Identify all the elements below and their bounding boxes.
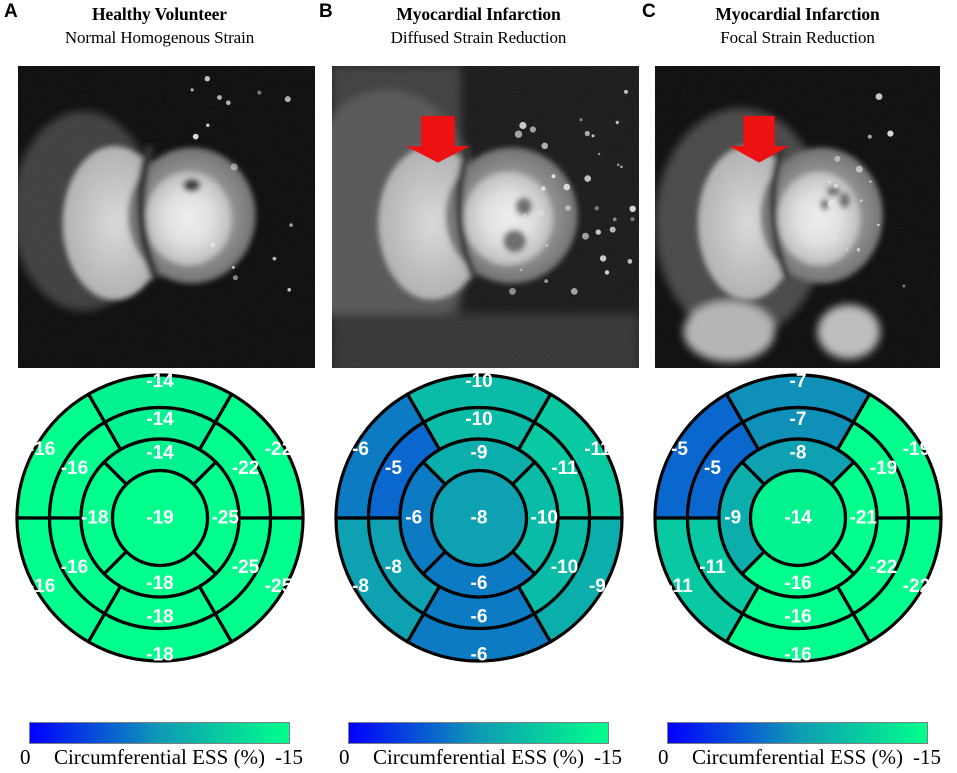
bullseye-segment-label: -22 <box>869 557 896 578</box>
bullseye-segment-label: -16 <box>784 606 811 627</box>
bullseye-segment-label: -11 <box>666 576 693 597</box>
bullseye-svg: -19-7-5-11-16-22-19-7-5-11-16-22-8-9-16-… <box>652 372 944 664</box>
bullseye-chart-b: -11-10-6-8-6-9-11-10-5-8-6-10-9-6-6-10-8 <box>333 372 625 664</box>
bullseye-segment-label: -14 <box>146 442 174 463</box>
short-axis-cardiac-mri-focal-mi <box>655 66 940 368</box>
bullseye-segment-label: -7 <box>789 372 806 392</box>
bullseye-chart-c: -19-7-5-11-16-22-19-7-5-11-16-22-8-9-16-… <box>652 372 944 664</box>
colorbar-gradient-a <box>29 722 290 744</box>
short-axis-cardiac-mri-diffuse-mi <box>332 66 639 368</box>
bullseye-segment-label: -16 <box>60 557 87 578</box>
bullseye-segment-label: -8 <box>352 576 369 597</box>
bullseye-segment-label: -5 <box>704 458 721 479</box>
bullseye-segment-label: -16 <box>784 644 811 664</box>
panel-c: C Myocardial Infarction Focal Strain Red… <box>638 0 957 726</box>
bullseye-segment-label: -10 <box>465 409 492 430</box>
bullseye-segment-label: -25 <box>211 508 239 529</box>
bullseye-segment-label: -25 <box>264 576 292 597</box>
bullseye-segment-label: -18 <box>146 606 173 627</box>
colorbar-max-label-b: -15 <box>594 747 622 768</box>
bullseye-segment-label: -6 <box>352 439 369 460</box>
bullseye-segment-label: -9 <box>470 442 487 463</box>
colorbar-max-label-a: -15 <box>275 747 303 768</box>
bullseye-segment-label: -7 <box>789 409 806 430</box>
bullseye-segment-label: -11 <box>551 458 578 479</box>
bullseye-segment-label: -16 <box>60 458 87 479</box>
bullseye-segment-label: -22 <box>231 458 258 479</box>
colorbar-gradient-c <box>667 722 928 744</box>
mri-noise-texture <box>655 66 940 368</box>
bullseye-svg: -11-10-6-8-6-9-11-10-5-8-6-10-9-6-6-10-8 <box>333 372 625 664</box>
panel-b-titles: Myocardial Infarction Diffused Strain Re… <box>319 4 638 49</box>
bullseye-segment-label: -9 <box>724 508 741 529</box>
bullseye-segment-label: -16 <box>27 576 54 597</box>
bullseye-segment-label: -8 <box>385 557 402 578</box>
panel-b-title: Myocardial Infarction <box>319 4 638 26</box>
bullseye-segment-label: -22 <box>264 439 291 460</box>
bullseye-segment-label: -9 <box>588 576 605 597</box>
panel-b: B Myocardial Infarction Diffused Strain … <box>319 0 638 726</box>
bullseye-segment-label: -5 <box>385 458 402 479</box>
bullseye-chart-a: -22-14-16-16-18-25-22-14-16-16-18-25-14-… <box>14 372 306 664</box>
bullseye-segment-label: -11 <box>584 439 611 460</box>
colorbar-gradient-b <box>348 722 609 744</box>
panel-a-subtitle: Normal Homogenous Strain <box>0 27 319 49</box>
panel-b-subtitle: Diffused Strain Reduction <box>319 27 638 49</box>
panel-a-titles: Healthy Volunteer Normal Homogenous Stra… <box>0 4 319 49</box>
panel-c-titles: Myocardial Infarction Focal Strain Reduc… <box>638 4 957 49</box>
bullseye-segment-label: -14 <box>146 372 174 392</box>
bullseye-segment-label: -14 <box>784 508 812 529</box>
bullseye-segment-label: -6 <box>470 573 487 594</box>
colorbar-title-a: Circumferential ESS (%) <box>0 747 319 768</box>
bullseye-svg: -22-14-16-16-18-25-22-14-16-16-18-25-14-… <box>14 372 306 664</box>
bullseye-segment-label: -14 <box>146 409 174 430</box>
bullseye-segment-label: -10 <box>550 557 577 578</box>
bullseye-segment-label: -5 <box>671 439 688 460</box>
bullseye-segment-label: -10 <box>465 372 492 392</box>
mri-image-c <box>655 66 940 368</box>
colorbar-title-c: Circumferential ESS (%) <box>638 747 957 768</box>
short-axis-cardiac-mri-healthy <box>18 66 315 368</box>
bullseye-segment-label: -11 <box>699 557 726 578</box>
mri-noise-texture <box>332 66 639 368</box>
bullseye-segment-label: -18 <box>146 573 173 594</box>
bullseye-segment-label: -10 <box>530 508 557 529</box>
mri-image-b <box>332 66 639 368</box>
bullseye-segment-label: -6 <box>470 606 487 627</box>
bullseye-segment-label: -16 <box>784 573 811 594</box>
panel-a: A Healthy Volunteer Normal Homogenous St… <box>0 0 319 726</box>
bullseye-segment-label: -16 <box>27 439 54 460</box>
bullseye-segment-label: -25 <box>231 557 259 578</box>
bullseye-segment-label: -22 <box>902 576 929 597</box>
bullseye-segment-label: -6 <box>470 644 487 664</box>
panel-a-title: Healthy Volunteer <box>0 4 319 26</box>
bullseye-segment-label: -21 <box>849 508 877 529</box>
mri-image-a <box>18 66 315 368</box>
bullseye-segment-label: -19 <box>902 439 929 460</box>
bullseye-segment-label: -6 <box>405 508 422 529</box>
panel-c-title: Myocardial Infarction <box>638 4 957 26</box>
mri-noise-texture <box>18 66 315 368</box>
bullseye-segment-label: -19 <box>869 458 896 479</box>
bullseye-segment-label: -18 <box>146 644 173 664</box>
bullseye-segment-label: -18 <box>81 508 108 529</box>
bullseye-segment-label: -19 <box>146 508 173 529</box>
panel-c-subtitle: Focal Strain Reduction <box>638 27 957 49</box>
colorbar-title-b: Circumferential ESS (%) <box>319 747 638 768</box>
colorbar-max-label-c: -15 <box>913 747 941 768</box>
bullseye-segment-label: -8 <box>470 508 487 529</box>
bullseye-segment-label: -8 <box>789 442 806 463</box>
